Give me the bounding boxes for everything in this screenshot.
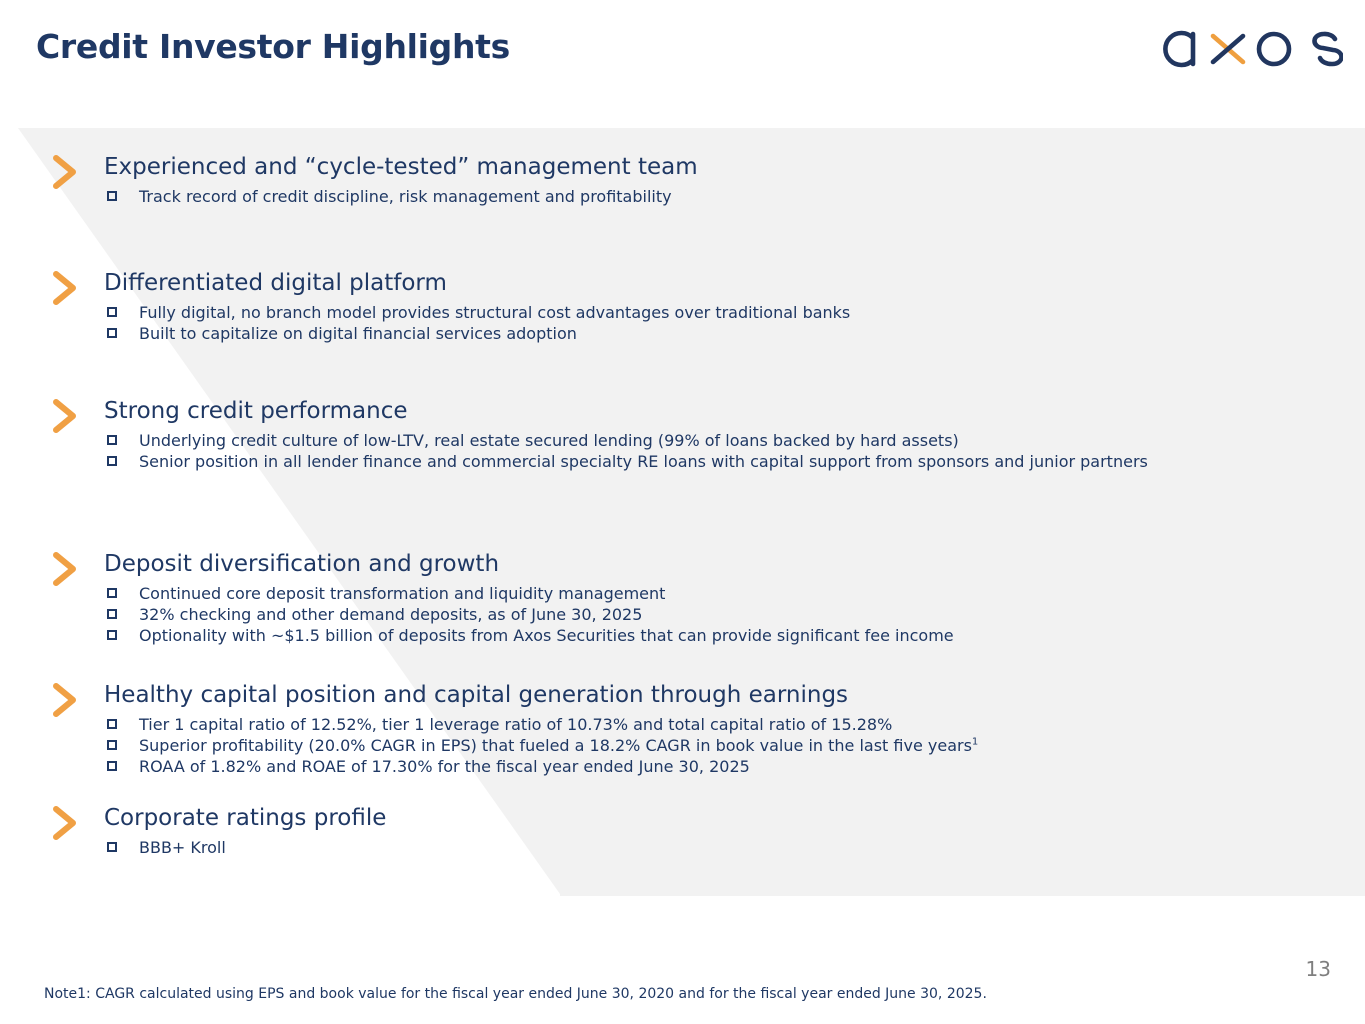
square-bullet-icon	[107, 842, 117, 852]
section-heading: Differentiated digital platform	[104, 268, 1338, 298]
square-bullet-icon	[107, 307, 117, 317]
bullet-text: Built to capitalize on digital financial…	[139, 323, 577, 344]
section-heading: Healthy capital position and capital gen…	[104, 680, 1338, 710]
square-bullet-icon	[107, 719, 117, 729]
chevron-right-icon	[48, 803, 82, 843]
bullet-item: Fully digital, no branch model provides …	[104, 302, 1338, 323]
chevron-right-icon	[48, 396, 82, 436]
square-bullet-icon	[107, 740, 117, 750]
chevron-right-icon	[48, 680, 82, 720]
bullet-text: BBB+ Kroll	[139, 837, 226, 858]
square-bullet-icon	[107, 609, 117, 619]
bullet-item: Underlying credit culture of low-LTV, re…	[104, 430, 1338, 451]
chevron-right-icon	[48, 680, 82, 720]
square-bullet-icon	[107, 328, 117, 338]
bullet-item: ROAA of 1.82% and ROAE of 17.30% for the…	[104, 756, 1338, 777]
chevron-right-icon	[48, 549, 82, 589]
highlight-section: Deposit diversification and growthContin…	[48, 549, 1338, 646]
chevron-right-icon	[48, 803, 82, 843]
section-heading: Deposit diversification and growth	[104, 549, 1338, 579]
chevron-right-icon	[48, 268, 82, 308]
highlight-section: Corporate ratings profileBBB+ Kroll	[48, 803, 1338, 858]
bullet-text: Underlying credit culture of low-LTV, re…	[139, 430, 959, 451]
bullet-text: Track record of credit discipline, risk …	[139, 186, 672, 207]
square-bullet-icon	[107, 456, 117, 466]
highlight-section: Experienced and “cycle-tested” managemen…	[48, 152, 1338, 207]
chevron-right-icon	[48, 152, 82, 192]
highlight-section: Strong credit performanceUnderlying cred…	[48, 396, 1338, 472]
bullet-text: ROAA of 1.82% and ROAE of 17.30% for the…	[139, 756, 750, 777]
bullet-text: Fully digital, no branch model provides …	[139, 302, 850, 323]
square-bullet-icon	[107, 630, 117, 640]
square-bullet-icon	[107, 435, 117, 445]
bullet-item: Built to capitalize on digital financial…	[104, 323, 1338, 344]
chevron-right-icon	[48, 268, 82, 308]
highlight-section: Healthy capital position and capital gen…	[48, 680, 1338, 777]
footnote: Note1: CAGR calculated using EPS and boo…	[44, 986, 987, 1002]
bullet-item: Optionality with ~$1.5 billion of deposi…	[104, 625, 1338, 646]
bullet-text: 32% checking and other demand deposits, …	[139, 604, 642, 625]
slide-content: Experienced and “cycle-tested” managemen…	[0, 0, 1365, 1024]
section-heading: Strong credit performance	[104, 396, 1338, 426]
section-bullet-list: Tier 1 capital ratio of 12.52%, tier 1 l…	[104, 714, 1338, 777]
page-number: 13	[1306, 957, 1331, 981]
chevron-right-icon	[48, 549, 82, 589]
bullet-item: Superior profitability (20.0% CAGR in EP…	[104, 735, 1338, 756]
section-bullet-list: Underlying credit culture of low-LTV, re…	[104, 430, 1338, 472]
square-bullet-icon	[107, 191, 117, 201]
bullet-text: Superior profitability (20.0% CAGR in EP…	[139, 735, 978, 756]
bullet-text: Continued core deposit transformation an…	[139, 583, 665, 604]
section-bullet-list: Track record of credit discipline, risk …	[104, 186, 1338, 207]
square-bullet-icon	[107, 588, 117, 598]
section-bullet-list: Fully digital, no branch model provides …	[104, 302, 1338, 344]
chevron-right-icon	[48, 152, 82, 192]
bullet-item: Senior position in all lender finance an…	[104, 451, 1338, 472]
section-bullet-list: BBB+ Kroll	[104, 837, 1338, 858]
bullet-text: Senior position in all lender finance an…	[139, 451, 1148, 472]
section-heading: Corporate ratings profile	[104, 803, 1338, 833]
bullet-item: 32% checking and other demand deposits, …	[104, 604, 1338, 625]
bullet-text: Optionality with ~$1.5 billion of deposi…	[139, 625, 954, 646]
bullet-item: Continued core deposit transformation an…	[104, 583, 1338, 604]
section-bullet-list: Continued core deposit transformation an…	[104, 583, 1338, 646]
bullet-item: Tier 1 capital ratio of 12.52%, tier 1 l…	[104, 714, 1338, 735]
bullet-item: Track record of credit discipline, risk …	[104, 186, 1338, 207]
chevron-right-icon	[48, 396, 82, 436]
bullet-text: Tier 1 capital ratio of 12.52%, tier 1 l…	[139, 714, 892, 735]
section-heading: Experienced and “cycle-tested” managemen…	[104, 152, 1338, 182]
bullet-item: BBB+ Kroll	[104, 837, 1338, 858]
highlight-section: Differentiated digital platformFully dig…	[48, 268, 1338, 344]
square-bullet-icon	[107, 761, 117, 771]
